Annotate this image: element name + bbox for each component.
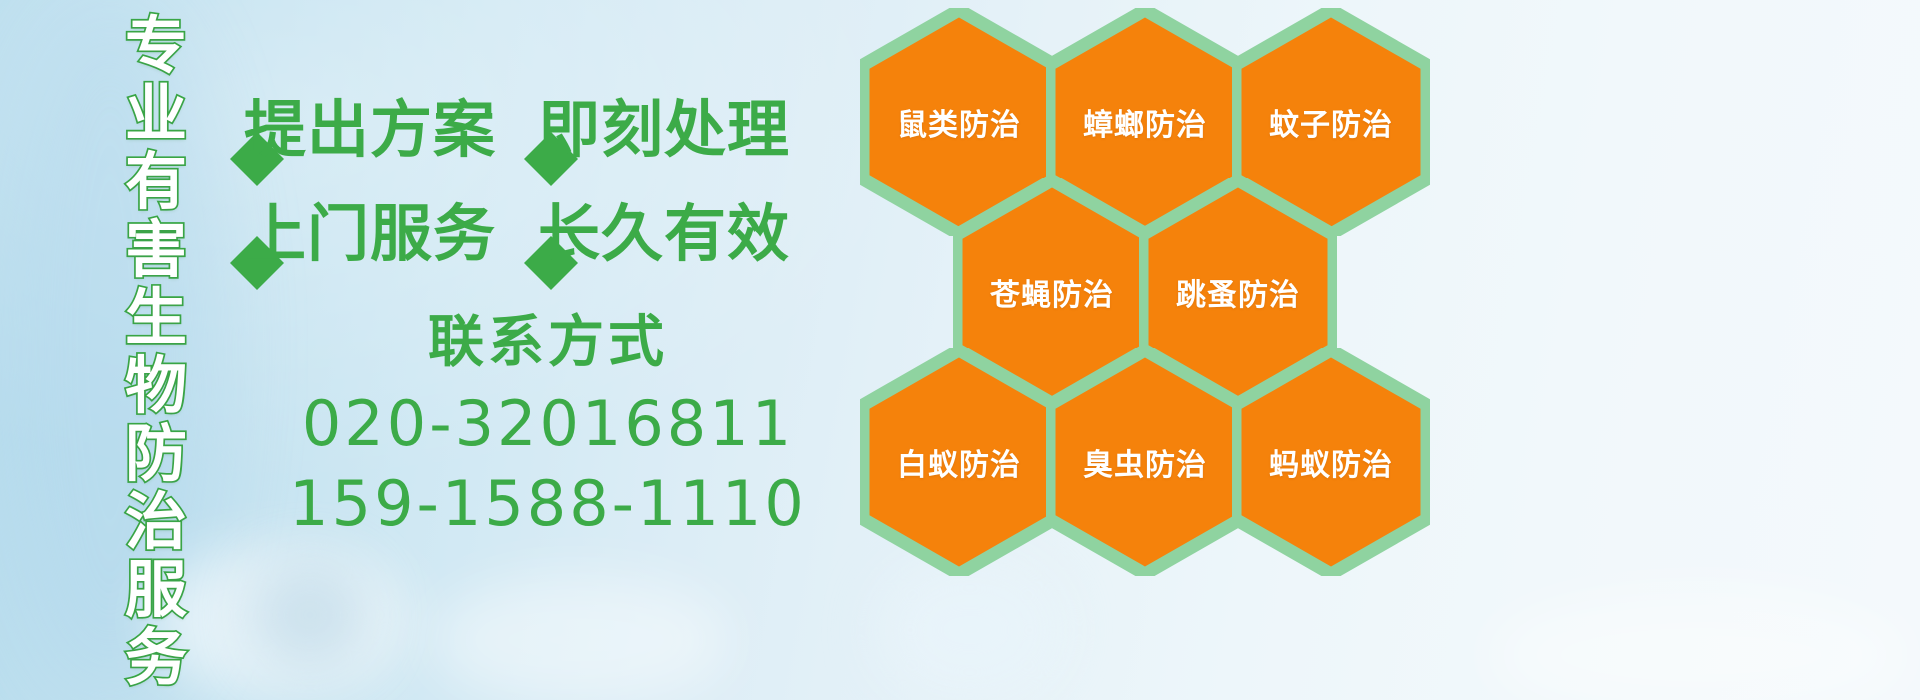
vertical-slogan-char: 有: [125, 148, 187, 216]
feature-label: 长久有效: [538, 202, 790, 266]
contact-block: 联系方式 020-32016811159-1588-1110: [228, 312, 868, 544]
vertical-slogan-char: 防: [125, 420, 187, 488]
vertical-slogan: 专业有害生物防治服务: [108, 12, 204, 572]
vertical-slogan-char: 务: [125, 624, 187, 692]
service-hexagon[interactable]: 白蚁防治: [860, 348, 1058, 576]
feature-label: 上门服务: [244, 202, 496, 266]
contact-phone: 020-32016811: [228, 384, 868, 464]
feature-row: 上门服务长久有效: [228, 182, 868, 286]
service-hexagon[interactable]: 臭虫防治: [1046, 348, 1244, 576]
feature-list: 提出方案即刻处理上门服务长久有效: [228, 78, 868, 286]
feature-label: 提出方案: [244, 98, 496, 162]
feature-item: 上门服务: [228, 202, 496, 266]
vertical-slogan-char: 害: [125, 216, 187, 284]
feature-item: 提出方案: [228, 98, 496, 162]
feature-label: 即刻处理: [538, 98, 790, 162]
service-hexagon-label: 臭虫防治: [1046, 348, 1244, 576]
feature-item: 即刻处理: [522, 98, 790, 162]
vertical-slogan-char: 服: [125, 556, 187, 624]
feature-row: 提出方案即刻处理: [228, 78, 868, 182]
vertical-slogan-char: 物: [125, 352, 187, 420]
service-hexagon-label: 蚂蚁防治: [1232, 348, 1430, 576]
vertical-slogan-char: 业: [125, 80, 187, 148]
contact-title: 联系方式: [228, 312, 868, 374]
contact-phone-list: 020-32016811159-1588-1110: [228, 384, 868, 544]
vertical-slogan-char: 专: [125, 12, 187, 80]
background-blur-c: [430, 575, 730, 700]
promo-banner: 专业有害生物防治服务 提出方案即刻处理上门服务长久有效 联系方式 020-320…: [0, 0, 1920, 700]
background-blur-e: [1490, 590, 1910, 700]
contact-phone: 159-1588-1110: [228, 464, 868, 544]
vertical-slogan-char: 生: [125, 284, 187, 352]
background-blur-d: [880, 560, 1060, 700]
service-hexagon-label: 白蚁防治: [860, 348, 1058, 576]
background-blur-b: [250, 560, 370, 670]
vertical-slogan-char: 治: [125, 488, 187, 556]
feature-item: 长久有效: [522, 202, 790, 266]
service-hexagon[interactable]: 蚂蚁防治: [1232, 348, 1430, 576]
service-honeycomb: 鼠类防治蟑螂防治蚊子防治苍蝇防治跳蚤防治白蚁防治臭虫防治蚂蚁防治: [860, 0, 1480, 560]
